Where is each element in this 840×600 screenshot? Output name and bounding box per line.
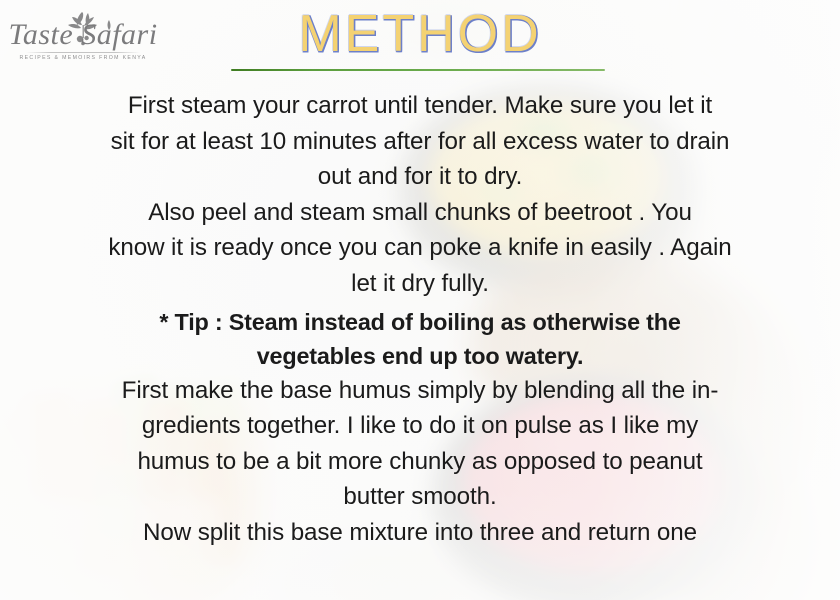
text-line: vegetables end up too watery.	[8, 339, 832, 373]
text-line: * Tip : Steam instead of boiling as othe…	[8, 305, 832, 339]
paragraph-tip-steam: * Tip : Steam instead of boiling as othe…	[8, 302, 832, 373]
text-line: know it is ready once you can poke a kni…	[8, 230, 832, 266]
paragraph-step-beetroot: Also peel and steam small chunks of beet…	[8, 195, 832, 302]
text-line: let it dry fully.	[8, 266, 832, 302]
paragraph-step-carrot: First steam your carrot until tender. Ma…	[8, 88, 832, 195]
text-line: gredients together. I like to do it on p…	[8, 408, 832, 444]
text-line: humus to be a bit more chunky as opposed…	[8, 444, 832, 480]
text-line: First make the base humus simply by blen…	[8, 373, 832, 409]
text-line: out and for it to dry.	[8, 159, 832, 195]
page-title-text: METHOD	[298, 4, 541, 64]
paragraph-step-split: Now split this base mixture into three a…	[8, 515, 832, 551]
method-body: First steam your carrot until tender. Ma…	[8, 88, 832, 551]
text-line: Also peel and steam small chunks of beet…	[8, 195, 832, 231]
title-underline	[231, 69, 605, 71]
text-line: butter smooth.	[8, 479, 832, 515]
text-line: sit for at least 10 minutes after for al…	[8, 124, 832, 160]
paragraph-step-base-humus: First make the base humus simply by blen…	[8, 373, 832, 515]
page-title: METHOD	[0, 4, 840, 64]
text-line: First steam your carrot until tender. Ma…	[8, 88, 832, 124]
text-line: Now split this base mixture into three a…	[8, 515, 832, 551]
recipe-method-slide: Taste Safari RECIPES & MEMOIRS FROM KENY…	[0, 0, 840, 600]
